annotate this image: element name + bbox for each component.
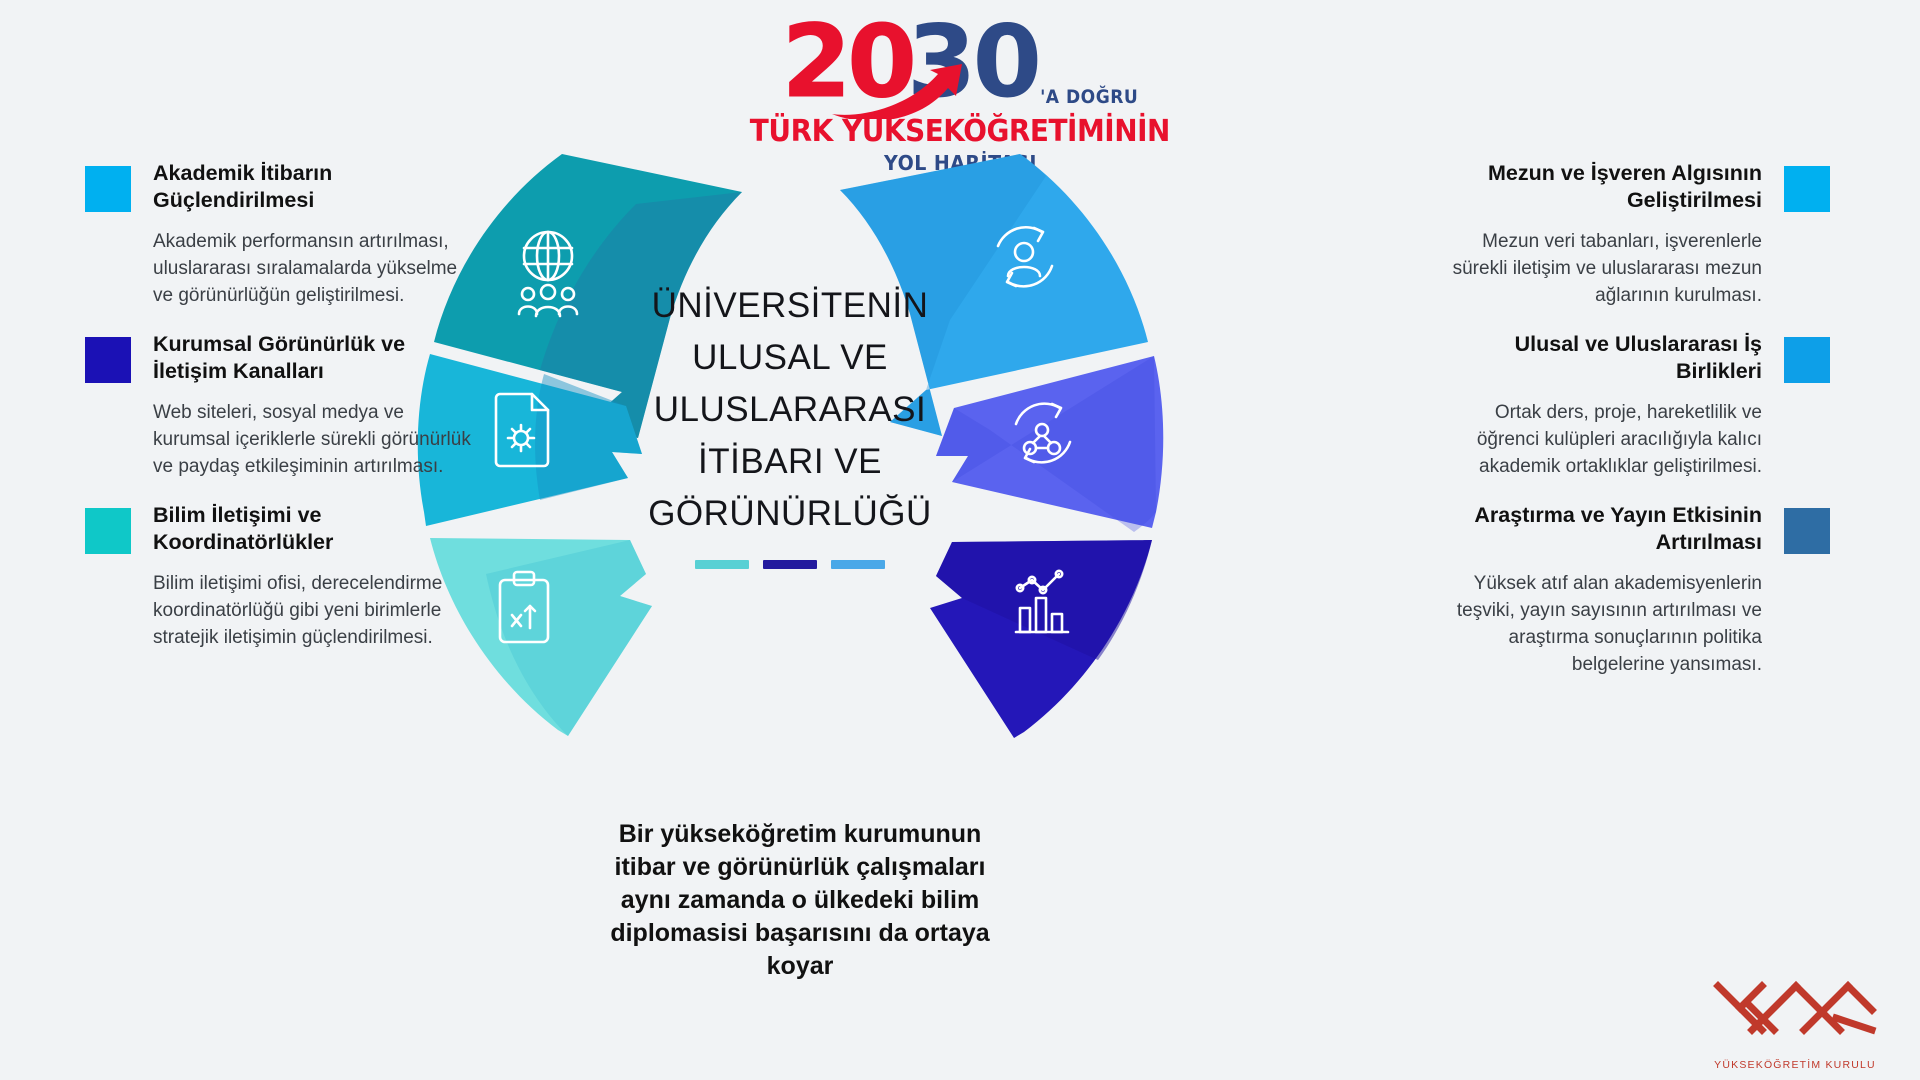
item-body: Mezun ve İşveren Algısının Geliştirilmes… [1440,160,1784,309]
logo-year-20: 20 [782,12,913,112]
item-title: Kurumsal Görünürlük ve İletişim Kanallar… [153,331,475,385]
swatch [1784,337,1830,383]
divider-bar-2 [763,560,817,569]
item-description: Bilim iletişimi ofisi, derecelendirme ko… [153,570,475,651]
swatch [85,337,131,383]
divider-bars [620,560,960,569]
item-body: Ulusal ve Uluslararası İş Birlikleri Ort… [1440,331,1784,480]
list-item[interactable]: Ulusal ve Uluslararası İş Birlikleri Ort… [1440,331,1830,480]
item-description: Mezun veri tabanları, işverenlerle sürek… [1440,228,1762,309]
wheel-segment-right-middle[interactable] [936,356,1163,532]
logo-year-row: 20 30 'A DOĞRU [782,12,1139,120]
item-body: Kurumsal Görünürlük ve İletişim Kanallar… [131,331,475,480]
list-item[interactable]: Araştırma ve Yayın Etkisinin Artırılması… [1440,502,1830,678]
yok-logo-caption: YÜKSEKÖĞRETİM KURULU [1700,1059,1890,1071]
swatch [85,166,131,212]
center-title-line-2: ULUSAL VE [620,332,960,384]
item-title: Akademik İtibarın Güçlendirilmesi [153,160,475,214]
item-description: Yüksek atıf alan akademisyenlerin teşvik… [1440,570,1762,678]
left-item-column: Akademik İtibarın Güçlendirilmesi Akadem… [85,160,475,673]
item-body: Akademik İtibarın Güçlendirilmesi Akadem… [131,160,475,309]
yok-logo: YÜKSEKÖĞRETİM KURULU [1700,980,1890,1071]
yok-mark-icon [1700,980,1890,1052]
infographic-canvas: 20 30 'A DOĞRU TÜRK YÜKSEKÖĞRETİMİNİN YO… [0,0,1920,1080]
item-description: Ortak ders, proje, hareketlilik ve öğren… [1440,399,1762,480]
bottom-caption: Bir yükseköğretim kurumunun itibar ve gö… [600,818,1000,983]
logo-suffix-dogru: 'A DOĞRU [1040,86,1138,108]
item-title: Ulusal ve Uluslararası İş Birlikleri [1440,331,1762,385]
center-title-line-4: İTİBARI VE [620,436,960,488]
list-item[interactable]: Bilim İletişimi ve Koordinatörlükler Bil… [85,502,475,651]
divider-bar-1 [695,560,749,569]
item-description: Web siteleri, sosyal medya ve kurumsal i… [153,399,475,480]
center-title-line-3: ULUSLARARASI [620,384,960,436]
list-item[interactable]: Mezun ve İşveren Algısının Geliştirilmes… [1440,160,1830,309]
item-title: Bilim İletişimi ve Koordinatörlükler [153,502,475,556]
item-body: Bilim İletişimi ve Koordinatörlükler Bil… [131,502,475,651]
list-item[interactable]: Akademik İtibarın Güçlendirilmesi Akadem… [85,160,475,309]
swatch [1784,166,1830,212]
center-title-line-1: ÜNİVERSİTENİN [620,280,960,332]
divider-bar-3 [831,560,885,569]
item-body: Araştırma ve Yayın Etkisinin Artırılması… [1440,502,1784,678]
item-title: Mezun ve İşveren Algısının Geliştirilmes… [1440,160,1762,214]
wheel-segment-right-bottom[interactable] [930,540,1152,738]
swatch [85,508,131,554]
item-title: Araştırma ve Yayın Etkisinin Artırılması [1440,502,1762,556]
item-description: Akademik performansın artırılması, ulusl… [153,228,475,309]
right-item-column: Mezun ve İşveren Algısının Geliştirilmes… [1440,160,1830,700]
swatch [1784,508,1830,554]
logo-year-30: 30 [907,12,1038,112]
list-item[interactable]: Kurumsal Görünürlük ve İletişim Kanallar… [85,331,475,480]
center-title-line-5: GÖRÜNÜRLÜĞÜ [620,488,960,540]
center-title-block: ÜNİVERSİTENİN ULUSAL VE ULUSLARARASI İTİ… [620,280,960,569]
page-title: ÜNİVERSİTENİN ULUSAL VE ULUSLARARASI İTİ… [620,280,960,540]
